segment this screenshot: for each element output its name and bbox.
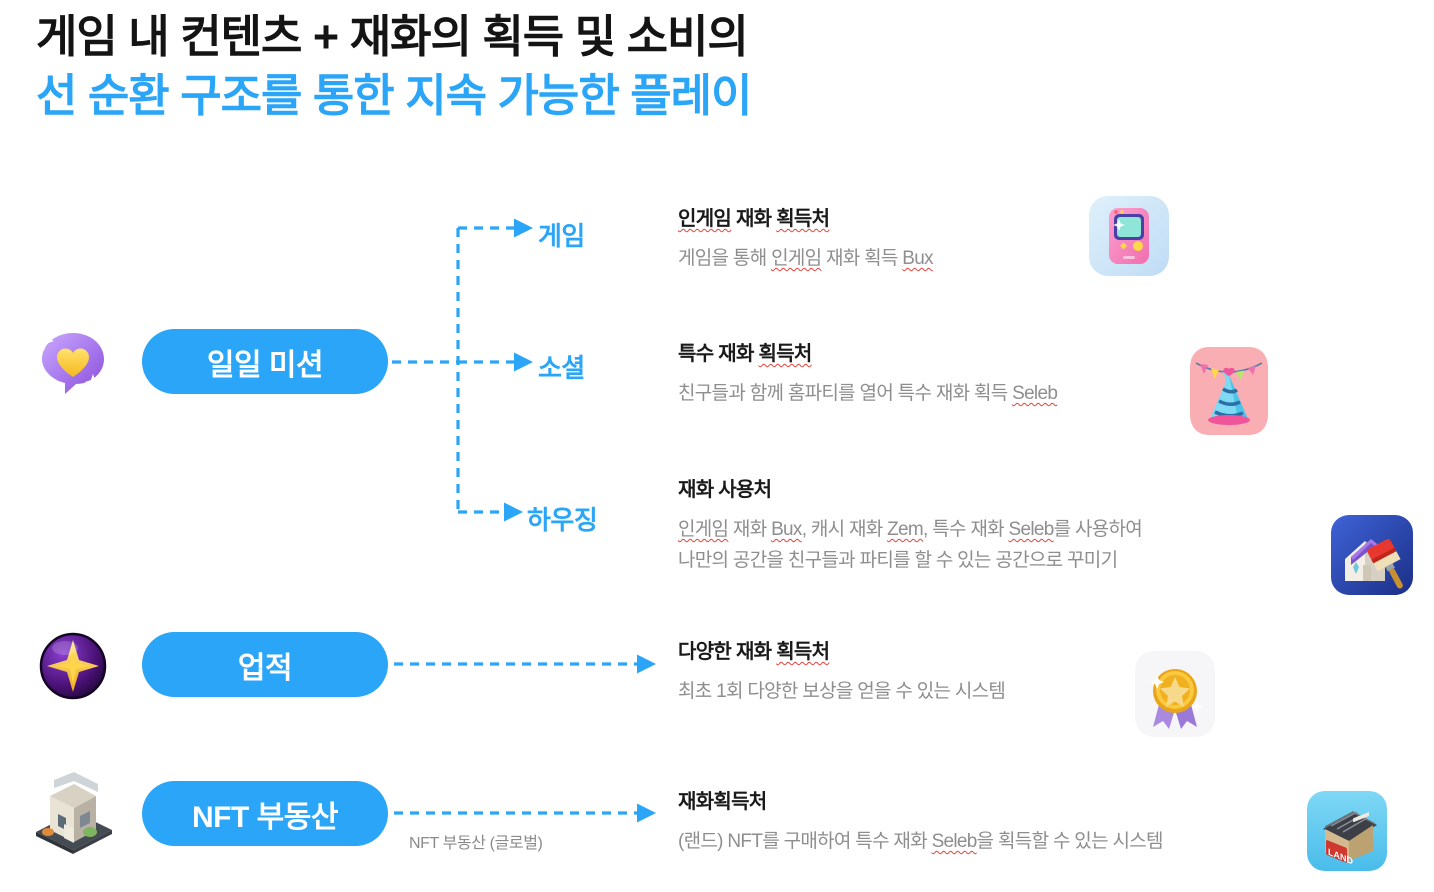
page-title: 게임 내 컨텐츠 + 재화의 획득 및 소비의 선 순환 구조를 통한 지속 가… — [36, 8, 1036, 125]
spellchecked-term: 인게임 — [678, 519, 728, 540]
spellchecked-term: Seleb — [1012, 383, 1057, 404]
spellchecked-term: 인게임 — [771, 248, 821, 269]
pill-achievement-label: 업적 — [238, 643, 292, 687]
land-house-icon: LAND — [1307, 791, 1387, 871]
block-heading: 재화획득처 — [678, 785, 1163, 814]
block-body: 인게임 재화 Bux, 캐시 재화 Zem, 특수 재화 Seleb를 사용하여… — [678, 515, 1142, 577]
spellchecked-term: Seleb — [1008, 519, 1053, 540]
branch-label-game: 게임 — [538, 216, 585, 253]
block-body: 최초 1회 다양한 보상을 얻을 수 있는 시스템 — [678, 677, 1005, 708]
block-heading: 재화 사용처 — [678, 473, 1142, 502]
text-run: 를 사용하여 — [1054, 519, 1142, 540]
spellchecked-term: Bux — [902, 248, 933, 269]
text-run: 다양한 재화 — [678, 641, 776, 663]
content-block-ingame-currency-source: 인게임 재화 획득처 게임을 통해 인게임 재화 획득 Bux — [678, 202, 933, 275]
content-block-special-currency-source: 특수 재화 획득처 친구들과 함께 홈파티를 열어 특수 재화 획득 Seleb — [678, 337, 1057, 410]
text-run: 재화 — [731, 208, 776, 230]
text-run: 친구들과 함께 홈파티를 열어 특수 재화 획득 — [678, 383, 1012, 404]
text-run: 을 획득할 수 있는 시스템 — [977, 831, 1163, 852]
pill-daily-mission-label: 일일 미션 — [207, 340, 323, 384]
spellchecked-term: 인게임 — [678, 208, 731, 230]
block-heading: 특수 재화 획득처 — [678, 337, 1057, 366]
spellchecked-term: Zem — [887, 519, 923, 540]
pill-nft-realestate-label: NFT 부동산 — [192, 792, 338, 836]
block-body: 게임을 통해 인게임 재화 획득 Bux — [678, 244, 933, 275]
game-console-icon — [1089, 196, 1169, 276]
text-run: 재화 획득 — [821, 248, 902, 269]
pill-daily-mission[interactable]: 일일 미션 — [142, 329, 388, 394]
star-badge-icon — [31, 622, 115, 706]
text-run: 재화획득처 — [678, 791, 767, 813]
spellchecked-term: Bux — [771, 519, 802, 540]
body-line: 최초 1회 다양한 보상을 얻을 수 있는 시스템 — [678, 677, 1005, 708]
block-body: 친구들과 함께 홈파티를 열어 특수 재화 획득 Seleb — [678, 379, 1057, 410]
body-line: 게임을 통해 인게임 재화 획득 Bux — [678, 244, 933, 275]
pill-achievement[interactable]: 업적 — [142, 632, 388, 697]
body-line: 나만의 공간을 친구들과 파티를 할 수 있는 공간으로 꾸미기 — [678, 546, 1142, 577]
text-run: 특수 재화 — [678, 343, 759, 365]
body-line: 인게임 재화 Bux, 캐시 재화 Zem, 특수 재화 Seleb를 사용하여 — [678, 515, 1142, 546]
block-heading: 인게임 재화 획득처 — [678, 202, 933, 231]
nft-sublabel: NFT 부동산 (글로벌) — [409, 829, 542, 853]
spellchecked-term: 획득처 — [759, 343, 812, 365]
connector-lines — [0, 0, 1434, 892]
branch-label-social: 소셜 — [538, 348, 585, 385]
medal-icon — [1135, 651, 1215, 737]
text-run: 나만의 공간을 친구들과 파티를 할 수 있는 공간으로 꾸미기 — [678, 550, 1117, 571]
slide-root: 게임 내 컨텐츠 + 재화의 획득 및 소비의 선 순환 구조를 통한 지속 가… — [0, 0, 1434, 892]
body-line: (랜드) NFT를 구매하여 특수 재화 Seleb을 획득할 수 있는 시스템 — [678, 827, 1163, 858]
title-line-2: 선 순환 구조를 통한 지속 가능한 플레이 — [36, 67, 1036, 126]
heart-bubble-icon — [31, 320, 115, 404]
house-paint-icon — [1331, 515, 1413, 595]
content-block-currency-sink: 재화 사용처 인게임 재화 Bux, 캐시 재화 Zem, 특수 재화 Sele… — [678, 473, 1142, 577]
text-run: 재화 — [728, 519, 771, 540]
block-heading: 다양한 재화 획득처 — [678, 635, 1005, 664]
title-line-1: 게임 내 컨텐츠 + 재화의 획득 및 소비의 — [36, 8, 1036, 67]
text-run: 재화 사용처 — [678, 479, 771, 501]
spellchecked-term: 획득처 — [776, 641, 829, 663]
text-run: 최초 1회 다양한 보상을 얻을 수 있는 시스템 — [678, 681, 1005, 702]
text-run: , 특수 재화 — [923, 519, 1008, 540]
text-run: , 캐시 재화 — [802, 519, 887, 540]
content-block-various-currency-source: 다양한 재화 획득처 최초 1회 다양한 보상을 얻을 수 있는 시스템 — [678, 635, 1005, 708]
content-block-land-currency-source: 재화획득처 (랜드) NFT를 구매하여 특수 재화 Seleb을 획득할 수 … — [678, 785, 1163, 858]
spellchecked-term: 획득처 — [776, 208, 829, 230]
isometric-house-icon — [28, 772, 112, 856]
pill-nft-realestate[interactable]: NFT 부동산 — [142, 781, 388, 846]
text-run: 게임을 통해 — [678, 248, 771, 269]
block-body: (랜드) NFT를 구매하여 특수 재화 Seleb을 획득할 수 있는 시스템 — [678, 827, 1163, 858]
branch-label-housing: 하우징 — [527, 500, 597, 537]
body-line: 친구들과 함께 홈파티를 열어 특수 재화 획득 Seleb — [678, 379, 1057, 410]
party-hat-icon — [1190, 347, 1268, 435]
spellchecked-term: Seleb — [932, 831, 977, 852]
text-run: (랜드) NFT를 구매하여 특수 재화 — [678, 831, 932, 852]
